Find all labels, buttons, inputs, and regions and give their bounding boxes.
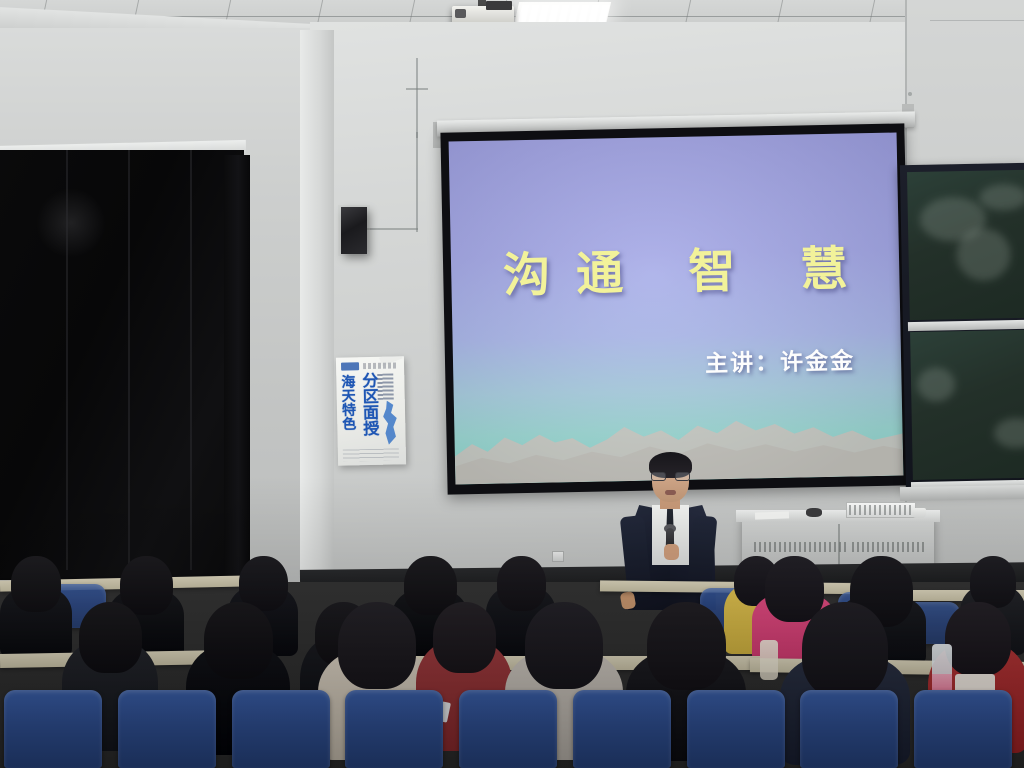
projection-screen-frame: 沟通 智 慧 主讲：许金金 — [440, 123, 911, 494]
student-plaid-jacket-head — [79, 602, 142, 673]
lecture-hall-seat[interactable] — [232, 690, 330, 768]
lecture-hall-seat[interactable] — [573, 690, 671, 768]
chalk-smudge — [994, 418, 1024, 449]
lectern-cup — [912, 508, 926, 518]
student-fur-collar-head — [802, 602, 888, 698]
lecture-hall-seat[interactable] — [914, 690, 1012, 768]
glasses-icon — [651, 472, 690, 481]
chalk-smudge — [956, 228, 1011, 281]
student-back-left-head — [11, 556, 61, 612]
poster-footer-text — [343, 448, 399, 461]
poster-map-graphic — [379, 400, 400, 444]
curtain-fold — [66, 150, 68, 570]
slide-subtitle: 主讲：许金金 — [705, 341, 856, 378]
projection-screen: 沟通 智 慧 主讲：许金金 — [449, 133, 904, 485]
curtain-fold — [190, 150, 192, 570]
wall-seam-h — [930, 20, 1024, 21]
curtain-fold — [128, 150, 130, 570]
lecture-hall-seat[interactable] — [459, 690, 557, 768]
rack-slots — [849, 505, 913, 515]
chalk-smudge — [979, 184, 1024, 211]
lecture-hall-seat[interactable] — [687, 690, 785, 768]
chalkboard-panel-top — [907, 170, 1024, 320]
chalk-smudge — [917, 367, 956, 402]
student-pink-jacket-head — [765, 556, 824, 622]
poster-text-left: 海天特色 — [341, 374, 356, 430]
lecture-hall-seat[interactable] — [800, 690, 898, 768]
wall-fixture — [908, 92, 912, 96]
lecture-hall-seat[interactable] — [118, 690, 216, 768]
poster-text-right: 分区面授 — [359, 372, 376, 436]
student-skull-sweater-head — [647, 602, 726, 690]
student-back-2-head — [120, 556, 173, 615]
lectern-vent-right — [852, 542, 926, 552]
lectern-equipment-rack — [846, 502, 916, 518]
projector-vent — [486, 1, 512, 10]
presenter-mouth — [665, 490, 676, 495]
wall-conduit-3 — [362, 228, 418, 230]
projector-lens-icon — [455, 9, 466, 18]
student-dark-coat-head — [204, 602, 273, 679]
lectern-paper — [755, 511, 789, 519]
wall-conduit — [416, 58, 418, 138]
front-seat-row — [0, 690, 1024, 768]
screen-vignette — [449, 133, 904, 485]
lectern-vent-left — [754, 542, 846, 552]
wall-column — [300, 30, 334, 630]
slide-title: 沟通 智 慧 — [451, 229, 900, 307]
curtain-highlight — [36, 188, 106, 258]
wall-conduit-2 — [406, 88, 428, 90]
chalkboard-ledge — [900, 485, 1024, 501]
lectern-knob — [806, 508, 822, 517]
poster-logo-icon — [341, 362, 359, 370]
student-back-8-head — [970, 556, 1016, 608]
desk-cup[interactable] — [760, 640, 778, 680]
curtain-edge — [224, 155, 250, 575]
wall-poster: 分区面授 海天特色 — [336, 356, 406, 465]
chalkboard-panel-bottom — [910, 330, 1024, 480]
chalkboard — [900, 163, 1024, 493]
student-cream-coat-head — [338, 602, 416, 689]
student-back-5-head — [497, 556, 546, 611]
student-red-pattern-head — [433, 602, 496, 673]
wall-conduit-4 — [416, 132, 418, 232]
lecture-hall-seat[interactable] — [4, 690, 102, 768]
student-red-jacket-head — [945, 602, 1011, 676]
poster-body-text — [377, 374, 394, 400]
lecture-hall-photo: 分区面授 海天特色 沟通 智 慧 主讲：许金金 — [0, 0, 1024, 768]
wall-speaker — [341, 207, 367, 254]
poster-header-text — [363, 362, 397, 369]
student-grey-hoodie-head — [525, 602, 603, 689]
lecture-hall-seat[interactable] — [345, 690, 443, 768]
